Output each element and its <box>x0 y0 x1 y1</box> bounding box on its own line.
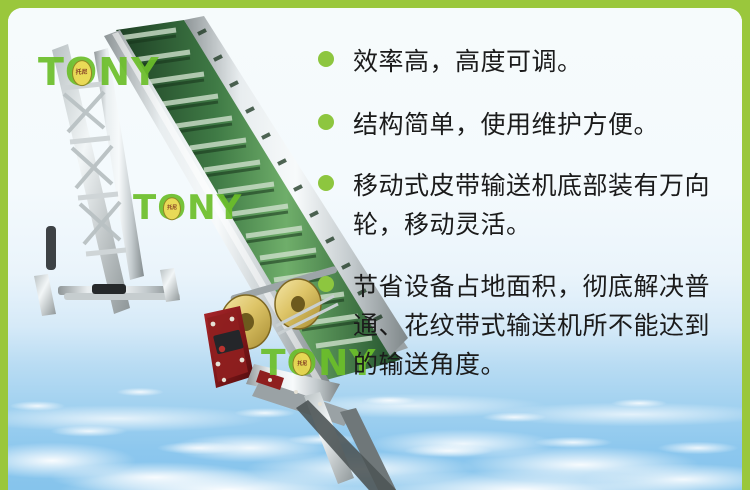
watermark-text-post: NY <box>187 188 242 228</box>
bullet-dot-icon <box>318 114 334 130</box>
bullet-dot-icon <box>318 175 334 191</box>
feature-item: 结构简单，使用维护方便。 <box>318 105 733 144</box>
feature-item: 效率高，高度可调。 <box>318 42 733 81</box>
watermark-letter-o: O托尼 <box>287 343 319 384</box>
watermark-text-pre: T <box>261 343 287 384</box>
feature-bullet-list: 效率高，高度可调。 结构简单，使用维护方便。 移动式皮带输送机底部装有万向轮，移… <box>318 42 733 384</box>
feature-text: 效率高，高度可调。 <box>353 42 583 81</box>
watermark-badge: 托尼 <box>72 60 92 86</box>
watermark-badge: 托尼 <box>163 197 181 221</box>
feature-text: 结构简单，使用维护方便。 <box>353 105 659 144</box>
watermark-tony-2: TO托尼NY <box>133 188 242 228</box>
watermark-text-pre: T <box>38 50 65 94</box>
watermark-tony-1: TO托尼NY <box>38 50 160 94</box>
bullet-dot-icon <box>318 276 334 292</box>
feature-text: 移动式皮带输送机底部装有万向轮，移动灵活。 <box>353 166 733 244</box>
poster-canvas: TO托尼NY TO托尼NY TO托尼NY 效率高，高度可调。 结构简单，使用维护… <box>8 8 742 490</box>
feature-text: 节省设备占地面积，彻底解决普通、花纹带式输送机所不能达到的输送角度。 <box>353 267 733 384</box>
watermark-letter-o: O托尼 <box>157 188 187 228</box>
promo-poster: TO托尼NY TO托尼NY TO托尼NY 效率高，高度可调。 结构简单，使用维护… <box>0 0 750 490</box>
watermark-letter-o: O托尼 <box>65 50 98 94</box>
watermark-text-post: NY <box>98 50 159 94</box>
watermark-text-pre: T <box>133 188 157 228</box>
bullet-dot-icon <box>318 51 334 67</box>
watermark-badge: 托尼 <box>293 352 312 376</box>
feature-item: 节省设备占地面积，彻底解决普通、花纹带式输送机所不能达到的输送角度。 <box>318 267 733 384</box>
feature-item: 移动式皮带输送机底部装有万向轮，移动灵活。 <box>318 166 733 244</box>
